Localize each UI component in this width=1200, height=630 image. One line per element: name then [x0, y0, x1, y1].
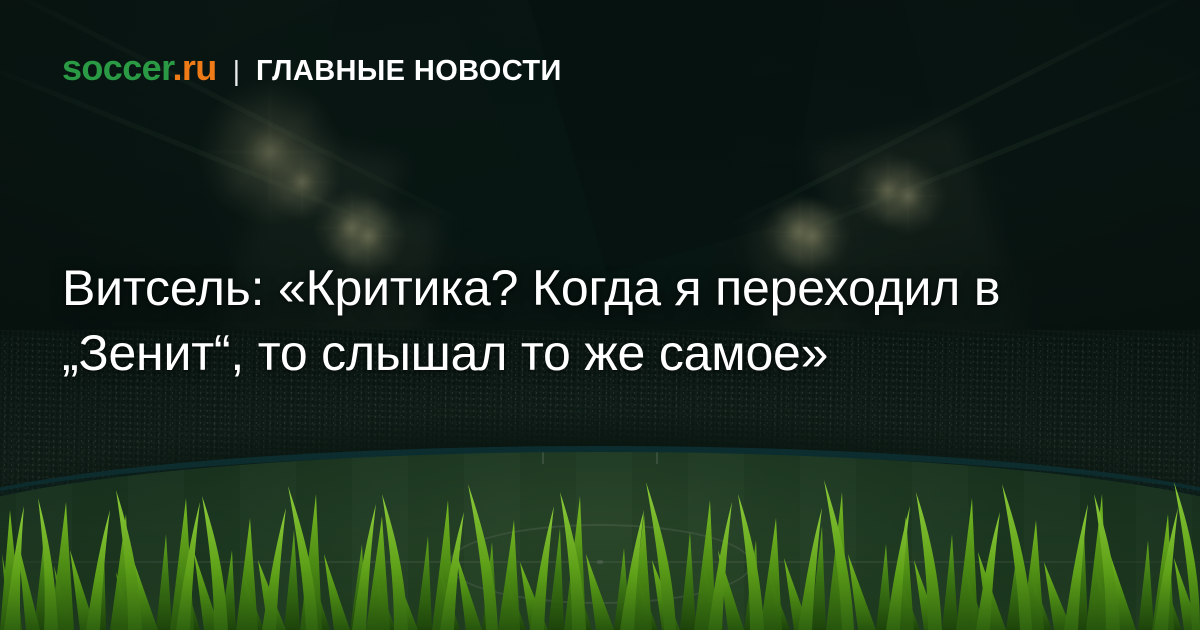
center-spot — [597, 560, 604, 564]
header-separator: | — [233, 57, 240, 85]
football-pitch — [0, 452, 1200, 630]
news-share-card: soccer.ru | ГЛАВНЫЕ НОВОСТИ Витсель: «Кр… — [0, 0, 1200, 630]
goal-icon — [542, 452, 658, 464]
floodlight-icon — [903, 191, 913, 201]
soccer-ru-logo[interactable]: soccer.ru — [62, 50, 217, 86]
floodlight-icon — [297, 177, 307, 187]
card-header: soccer.ru | ГЛАВНЫЕ НОВОСТИ — [62, 50, 562, 86]
floodlight-icon — [363, 231, 373, 241]
header-section-label: ГЛАВНЫЕ НОВОСТИ — [256, 57, 562, 86]
headline-title: Витсель: «Критика? Когда я переходил в „… — [62, 256, 1092, 386]
logo-name-text: soccer — [62, 47, 173, 88]
floodlight-icon — [807, 231, 817, 241]
logo-tld-text: .ru — [173, 47, 217, 88]
center-circle — [448, 524, 752, 604]
